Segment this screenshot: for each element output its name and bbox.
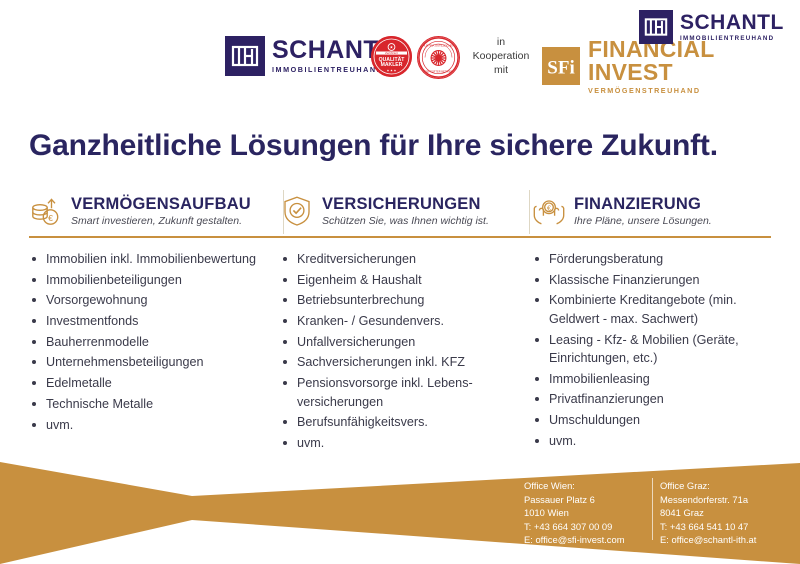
office-city: 1010 Wien (524, 506, 625, 520)
office-label: Office Graz: (660, 479, 756, 493)
office-phone[interactable]: T: +43 664 307 00 09 (524, 520, 625, 534)
contact-divider (652, 478, 653, 540)
office-street: Messendorferstr. 71a (660, 493, 756, 507)
brochure-page: SCHANTL IMMOBILIENTREUHAND ★ Zertifizier… (0, 0, 800, 564)
office-graz-block: Office Graz: Messendorferstr. 71a 8041 G… (660, 479, 756, 547)
office-email[interactable]: E: office@schantl-ith.at (660, 533, 756, 547)
office-phone[interactable]: T: +43 664 541 10 47 (660, 520, 756, 534)
office-city: 8041 Graz (660, 506, 756, 520)
office-street: Passauer Platz 6 (524, 493, 625, 507)
office-wien-block: Office Wien: Passauer Platz 6 1010 Wien … (524, 479, 625, 547)
office-email[interactable]: E: office@sfi-invest.com (524, 533, 625, 547)
footer-contacts: Office Wien: Passauer Platz 6 1010 Wien … (0, 0, 800, 564)
office-label: Office Wien: (524, 479, 625, 493)
